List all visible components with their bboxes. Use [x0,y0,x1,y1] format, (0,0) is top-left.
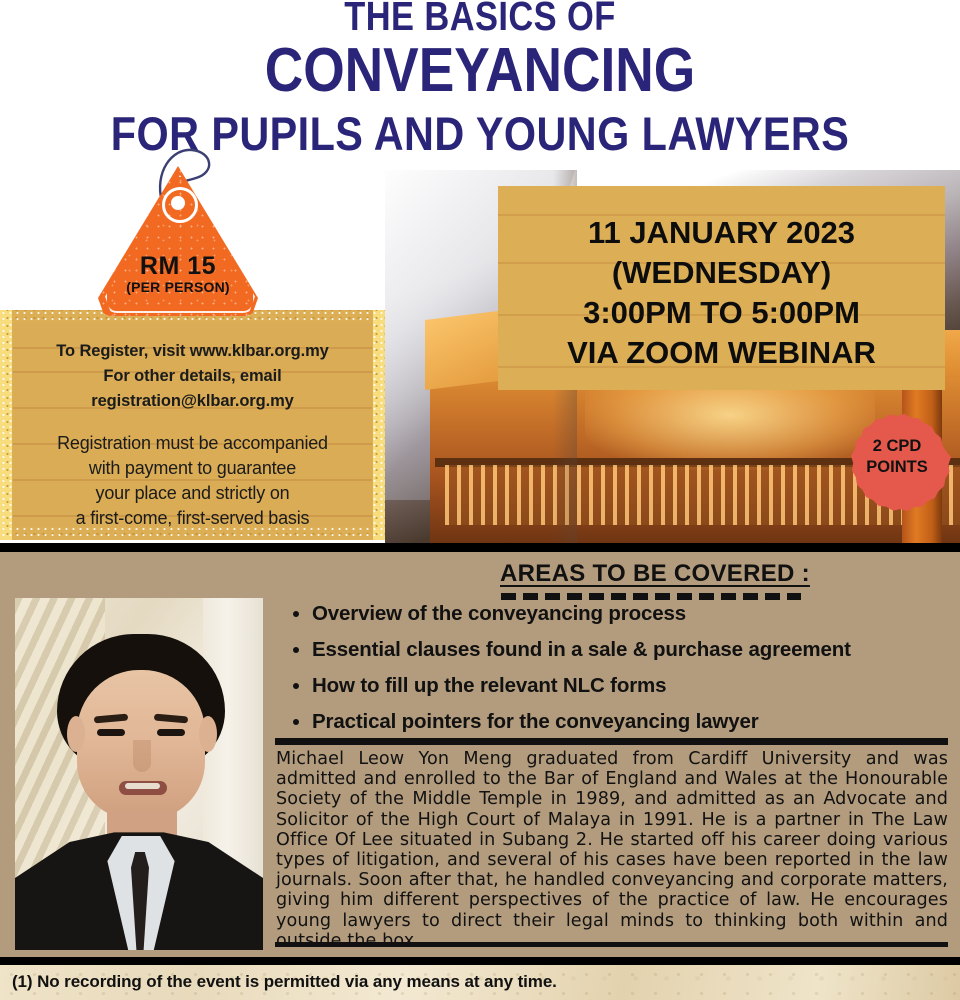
cpd-points-badge: 2 CPD POINTS [843,403,951,511]
top-section: THE BASICS OF CONVEYANCING FOR PUPILS AN… [0,0,960,543]
event-platform: VIA ZOOM WEBINAR [498,333,945,373]
registration-terms-4: a first-come, first-served basis [13,506,372,527]
event-date: 11 JANUARY 2023 [498,213,945,253]
speaker-photo [15,598,263,950]
poster: THE BASICS OF CONVEYANCING FOR PUPILS AN… [0,0,960,1000]
registration-contact: To Register, visit www.klbar.org.my For … [13,323,372,414]
registration-email-intro: For other details, email [13,364,372,389]
registration-inner: To Register, visit www.klbar.org.my For … [13,323,372,527]
list-item: Essential clauses found in a sale & purc… [312,634,960,666]
bio-rule-bottom [275,942,948,947]
registration-terms: Registration must be accompanied with pa… [13,414,372,527]
cpd-badge-line-1: 2 CPD [873,436,922,457]
cpd-badge-line-2: POINTS [866,457,927,478]
speaker-nose [133,740,151,772]
areas-heading: AREAS TO BE COVERED : [500,560,810,588]
event-day: (WEDNESDAY) [498,253,945,293]
event-details-text: 11 JANUARY 2023 (WEDNESDAY) 3:00PM TO 5:… [498,186,945,373]
cpd-badge-text: 2 CPD POINTS [843,403,951,511]
registration-terms-1: Registration must be accompanied [13,431,372,456]
speaker-eye-right [157,729,185,736]
bio-rule-top [275,738,948,745]
speaker-bio: Michael Leow Yon Meng graduated from Car… [276,749,948,951]
footer: (1) No recording of the event is permitt… [0,965,960,1000]
registration-panel: To Register, visit www.klbar.org.my For … [0,310,385,540]
tag-price-note: (PER PERSON) [98,279,258,295]
registration-url-line[interactable]: To Register, visit www.klbar.org.my [13,339,372,364]
footer-note: (1) No recording of the event is permitt… [0,965,960,992]
price-tag: RM 15 (PER PERSON) [84,138,274,323]
registration-terms-3: your place and strictly on [13,481,372,506]
title-line-2: CONVEYANCING [67,40,893,102]
event-time: 3:00PM TO 5:00PM [498,293,945,333]
section-divider-bottom [0,957,960,965]
list-item: Practical pointers for the conveyancing … [312,706,960,738]
page-title: THE BASICS OF CONVEYANCING FOR PUPILS AN… [0,0,960,159]
bottom-section: AREAS TO BE COVERED : Overview of the co… [0,552,960,957]
registration-terms-2: with payment to guarantee [13,456,372,481]
areas-list: Overview of the conveyancing process Ess… [284,598,960,742]
speaker-ear-left [67,716,85,752]
section-divider-top [0,543,960,552]
tag-price-label: RM 15 [98,252,258,281]
event-details-panel: 11 JANUARY 2023 (WEDNESDAY) 3:00PM TO 5:… [498,186,945,390]
speaker-ear-right [199,716,217,752]
title-line-1: THE BASICS OF [77,0,883,38]
speaker-eye-left [97,729,125,736]
price-tag-shape: RM 15 (PER PERSON) [98,166,258,316]
speaker-teeth [125,783,160,789]
registration-email[interactable]: registration@klbar.org.my [13,389,372,414]
list-item: Overview of the conveyancing process [312,598,960,630]
tag-hole-icon [162,187,198,223]
list-item: How to fill up the relevant NLC forms [312,670,960,702]
